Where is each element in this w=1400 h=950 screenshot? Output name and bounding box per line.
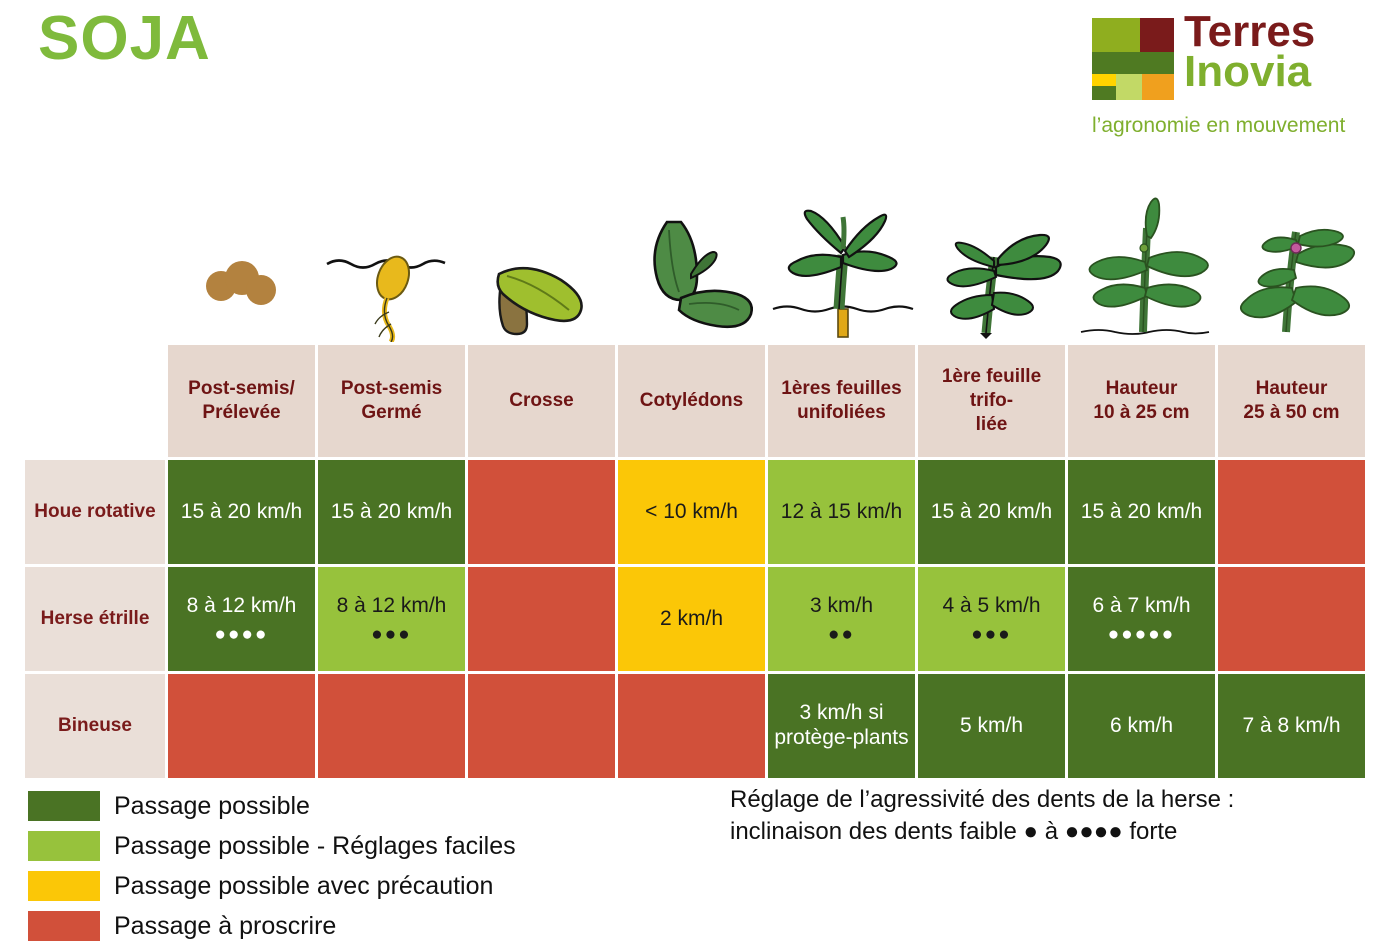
germinating-seed-icon (316, 182, 466, 342)
cell-herse-7 (1218, 567, 1365, 671)
table-header-row: Post-semis/Prélevée Post-semisGermé Cros… (25, 345, 1375, 457)
legend-swatch-dark-green (28, 791, 100, 821)
growth-stage-illustrations (165, 182, 1380, 342)
cell-houe-4: 12 à 15 km/h (768, 460, 915, 564)
cell-houe-6: 15 à 20 km/h (1068, 460, 1215, 564)
table-row-herse-etrille: Herse étrille 8 à 12 km/h●●●● 8 à 12 km/… (25, 567, 1375, 671)
column-header-hauteur-25-50: Hauteur25 à 50 cm (1218, 345, 1365, 457)
cell-houe-2 (468, 460, 615, 564)
cotyledon-leaves-icon (618, 182, 768, 342)
cell-bineuse-2 (468, 674, 615, 778)
note-dot-weak: ● (1024, 818, 1039, 845)
legend-label-avec-precaution: Passage possible avec précaution (114, 872, 493, 901)
cell-bineuse-5: 5 km/h (918, 674, 1065, 778)
legend-item-passage-possible: Passage possible (28, 786, 516, 826)
logo-wordmark: Terres Inovia (1184, 12, 1315, 93)
cell-speed-text: 5 km/h (960, 714, 1023, 739)
column-header-crosse: Crosse (468, 345, 615, 457)
page-title: SOJA (38, 8, 211, 70)
cell-speed-text: 2 km/h (660, 607, 723, 632)
legend-label-a-proscrire: Passage à proscrire (114, 912, 336, 941)
cell-aggressiveness-dots: ●●● (371, 625, 411, 644)
terres-inovia-logo: Terres Inovia l’agronomie en mouvement (1092, 18, 1382, 140)
cell-speed-text: 15 à 20 km/h (931, 500, 1052, 525)
cell-speed-text: 15 à 20 km/h (331, 500, 452, 525)
cell-herse-3: 2 km/h (618, 567, 765, 671)
speed-matrix-table: Post-semis/Prélevée Post-semisGermé Cros… (25, 345, 1375, 781)
cell-aggressiveness-dots: ●●●●● (1108, 625, 1175, 644)
legend-swatch-yellow (28, 871, 100, 901)
cell-bineuse-3 (618, 674, 765, 778)
column-header-post-semis-prelevee: Post-semis/Prélevée (168, 345, 315, 457)
table-row-houe-rotative: Houe rotative 15 à 20 km/h 15 à 20 km/h … (25, 460, 1375, 564)
cell-speed-text: 12 à 15 km/h (781, 500, 902, 525)
cell-herse-2 (468, 567, 615, 671)
cell-herse-1: 8 à 12 km/h●●● (318, 567, 465, 671)
note-dots-strong: ●●●● (1065, 818, 1123, 845)
cell-speed-text: 7 à 8 km/h (1242, 714, 1340, 739)
cell-houe-0: 15 à 20 km/h (168, 460, 315, 564)
legend-item-avec-precaution: Passage possible avec précaution (28, 866, 516, 906)
legend-label-passage-possible: Passage possible (114, 792, 310, 821)
cell-bineuse-4: 3 km/h siprotège-plants (768, 674, 915, 778)
cell-speed-text: 4 à 5 km/h (942, 594, 1040, 619)
cell-aggressiveness-dots: ●●● (971, 625, 1011, 644)
cell-speed-text: 15 à 20 km/h (1081, 500, 1202, 525)
young-plant-icon (1071, 182, 1221, 342)
cell-houe-7 (1218, 460, 1365, 564)
cell-houe-1: 15 à 20 km/h (318, 460, 465, 564)
cell-aggressiveness-dots: ●●●● (215, 625, 269, 644)
table-row-bineuse: Bineuse 3 km/h siprotège-plants 5 km/h 6… (25, 674, 1375, 778)
logo-tagline: l’agronomie en mouvement (1092, 114, 1345, 138)
cell-bineuse-0 (168, 674, 315, 778)
row-header-houe-rotative: Houe rotative (25, 460, 165, 564)
header-corner-spacer (25, 345, 165, 457)
cell-speed-text: 15 à 20 km/h (181, 500, 302, 525)
logo-terres-text: Terres (1184, 12, 1315, 52)
logo-inovia-text: Inovia (1184, 52, 1315, 92)
seedling-unifoliate-icon (769, 182, 919, 342)
cell-aggressiveness-dots: ●● (828, 625, 855, 644)
legend-swatch-light-green (28, 831, 100, 861)
column-header-unifoliees: 1ères feuillesunifoliées (768, 345, 915, 457)
note-line-2: inclinaison des dents faible ● à ●●●● fo… (730, 816, 1234, 848)
cell-speed-text: 6 km/h (1110, 714, 1173, 739)
legend: Passage possible Passage possible - Régl… (28, 786, 516, 946)
grown-plant-icon (1222, 182, 1372, 342)
column-header-trifoliee: 1ère feuille trifo-liée (918, 345, 1065, 457)
legend-swatch-red (28, 911, 100, 941)
cell-speed-text: 3 km/h (810, 594, 873, 619)
hook-shoot-icon (467, 182, 617, 342)
cell-speed-text: 8 à 12 km/h (337, 594, 447, 619)
cell-houe-3: < 10 km/h (618, 460, 765, 564)
column-header-post-semis-germe: Post-semisGermé (318, 345, 465, 457)
cell-herse-0: 8 à 12 km/h●●●● (168, 567, 315, 671)
cell-speed-text: 3 km/h siprotège-plants (774, 701, 908, 751)
cell-bineuse-1 (318, 674, 465, 778)
column-header-hauteur-10-25: Hauteur10 à 25 cm (1068, 345, 1215, 457)
row-header-bineuse: Bineuse (25, 674, 165, 778)
note-line2-after: forte (1123, 818, 1178, 845)
cell-bineuse-6: 6 km/h (1068, 674, 1215, 778)
legend-label-reglages-faciles: Passage possible - Réglages faciles (114, 832, 516, 861)
row-header-herse-etrille: Herse étrille (25, 567, 165, 671)
seedling-trifoliate-icon (920, 182, 1070, 342)
column-header-cotyledons: Cotylédons (618, 345, 765, 457)
legend-item-a-proscrire: Passage à proscrire (28, 906, 516, 946)
cell-herse-6: 6 à 7 km/h●●●●● (1068, 567, 1215, 671)
cell-herse-5: 4 à 5 km/h●●● (918, 567, 1065, 671)
logo-mosaic-icon (1092, 18, 1174, 100)
cell-herse-4: 3 km/h●● (768, 567, 915, 671)
note-line-1: Réglage de l’agressivité des dents de la… (730, 784, 1234, 816)
cell-houe-5: 15 à 20 km/h (918, 460, 1065, 564)
harrow-aggressiveness-note: Réglage de l’agressivité des dents de la… (730, 784, 1234, 849)
cell-bineuse-7: 7 à 8 km/h (1218, 674, 1365, 778)
note-line2-before: inclinaison des dents faible (730, 818, 1024, 845)
legend-item-reglages-faciles: Passage possible - Réglages faciles (28, 826, 516, 866)
seed-cluster-icon (165, 182, 315, 342)
cell-speed-text: < 10 km/h (645, 500, 738, 525)
note-line2-mid: à (1038, 818, 1065, 845)
cell-speed-text: 8 à 12 km/h (187, 594, 297, 619)
cell-speed-text: 6 à 7 km/h (1092, 594, 1190, 619)
